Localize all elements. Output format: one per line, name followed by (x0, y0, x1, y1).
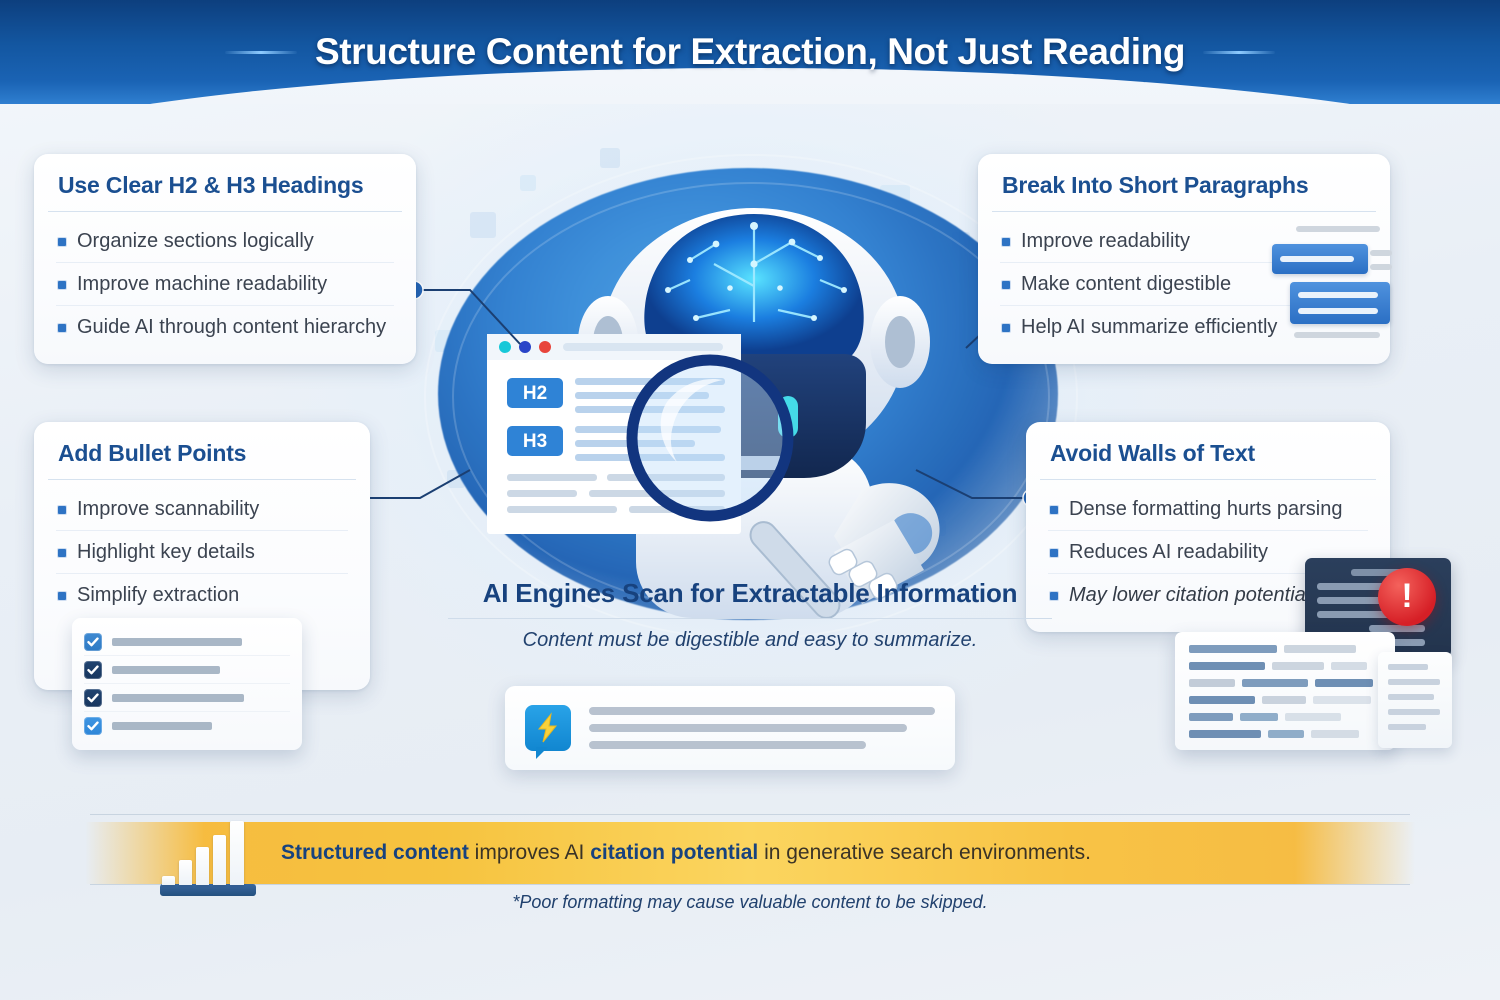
bullet-icon (58, 549, 66, 557)
list-item: Highlight key details (56, 530, 348, 573)
chart-bar (213, 835, 226, 885)
magnifier-icon (615, 350, 805, 540)
snippet-line (589, 741, 866, 749)
list-item-label: Highlight key details (77, 540, 255, 564)
card-use-clear-headings[interactable]: Use Clear H2 & H3 Headings Organize sect… (34, 154, 416, 364)
bar-chart-icon (160, 828, 256, 896)
list-item-label: Help AI summarize efficiently (1021, 315, 1277, 339)
caption-title: AI Engines Scan for Extractable Informat… (400, 578, 1100, 609)
list-item: Guide AI through content hierarchy (56, 305, 394, 348)
checklist-card (72, 618, 302, 750)
checklist-row[interactable] (84, 711, 290, 739)
chart-bar (162, 876, 175, 885)
deco-line (1388, 724, 1426, 730)
deco-line (1388, 694, 1434, 700)
list-item-label: Simplify extraction (77, 583, 239, 607)
checklist-row[interactable] (84, 683, 290, 711)
list-item-label: Reduces AI readability (1069, 540, 1268, 564)
bullet-icon (58, 281, 66, 289)
deco-line (1388, 664, 1428, 670)
caption-divider (448, 618, 1052, 619)
bullet-icon (1002, 281, 1010, 289)
dense-text-card-light (1175, 632, 1395, 750)
checklist-bar (112, 638, 242, 646)
card-title: Use Clear H2 & H3 Headings (34, 154, 416, 211)
header-dash-right-icon (1203, 51, 1275, 54)
footer-rule-bottom (90, 884, 1410, 885)
ai-snippet-card (505, 686, 955, 770)
footer-rule-top (90, 814, 1410, 815)
bullet-icon (58, 506, 66, 514)
footer-tail: in generative search environments. (758, 841, 1091, 864)
list-item-label: May lower citation potential (1069, 583, 1310, 607)
deco-line (1388, 679, 1440, 685)
checklist-bar (112, 694, 244, 702)
list-item-label: Dense formatting hurts parsing (1069, 497, 1342, 521)
bullet-icon (1002, 324, 1010, 332)
checkbox-checked-icon[interactable] (84, 717, 102, 735)
list-item: Improve machine readability (56, 262, 394, 305)
bullet-icon (58, 238, 66, 246)
infographic-canvas: H2 H3 Use (0, 0, 1500, 1000)
list-item-label: Guide AI through content hierarchy (77, 315, 386, 339)
lightning-bolt-bubble-icon (525, 705, 571, 751)
list-item: Simplify extraction (56, 573, 348, 616)
checklist-bar (112, 666, 220, 674)
list-item: Organize sections logically (56, 220, 394, 262)
bullet-icon (1002, 238, 1010, 246)
bullet-icon (1050, 549, 1058, 557)
checkbox-checked-icon[interactable] (84, 633, 102, 651)
footer-banner: Structured content improves AI citation … (85, 822, 1415, 884)
alert-glyph: ! (1401, 579, 1412, 613)
chart-bar (196, 847, 209, 885)
snippet-lines (589, 707, 935, 749)
red-alert-icon: ! (1378, 568, 1436, 626)
card-bullet-list: Improve scannability Highlight key detai… (34, 480, 370, 632)
deco-row (1189, 662, 1381, 670)
h2-badge-label: H2 (523, 383, 547, 404)
checklist-bar (112, 722, 212, 730)
paragraph-blocks-decoration (1272, 226, 1390, 346)
deco-row (1189, 713, 1381, 721)
bullet-icon (58, 592, 66, 600)
card-title: Avoid Walls of Text (1026, 422, 1390, 479)
footer-text: Structured content improves AI citation … (281, 841, 1091, 865)
card-bullet-list: Organize sections logically Improve mach… (34, 212, 416, 364)
dense-text-card-back (1378, 652, 1452, 748)
deco-row (1189, 696, 1381, 704)
checklist-row[interactable] (84, 628, 290, 655)
deco-line (1370, 250, 1392, 256)
chart-bar (179, 860, 192, 885)
snippet-line (589, 724, 907, 732)
deco-block (1290, 282, 1390, 324)
caption-subtitle: Content must be digestible and easy to s… (400, 629, 1100, 652)
deco-line (1388, 709, 1440, 715)
snippet-line (589, 707, 935, 715)
list-item: Dense formatting hurts parsing (1048, 488, 1368, 530)
bullet-icon (1050, 506, 1058, 514)
list-item-label: Improve scannability (77, 497, 259, 521)
deco-block (1272, 244, 1368, 274)
card-title: Add Bullet Points (34, 422, 370, 479)
page-title: Structure Content for Extraction, Not Ju… (315, 31, 1185, 73)
checkbox-checked-icon[interactable] (84, 661, 102, 679)
header-title-row: Structure Content for Extraction, Not Ju… (0, 0, 1500, 104)
chart-bar (230, 821, 244, 885)
checklist-row[interactable] (84, 655, 290, 683)
deco-line (1294, 332, 1380, 338)
footer-note: *Poor formatting may cause valuable cont… (0, 892, 1500, 913)
deco-line (1369, 625, 1425, 632)
card-title: Break Into Short Paragraphs (978, 154, 1390, 211)
deco-row (1189, 679, 1381, 687)
list-item-label: Make content digestible (1021, 272, 1231, 296)
center-caption: AI Engines Scan for Extractable Informat… (400, 578, 1100, 652)
deco-row (1189, 645, 1381, 653)
header-dash-left-icon (225, 51, 297, 54)
list-item: Improve scannability (56, 488, 348, 530)
list-item-label: Organize sections logically (77, 229, 314, 253)
footer-mid: improves AI (469, 841, 590, 864)
footer-bold-lead: Structured content (281, 841, 469, 864)
h3-badge-label: H3 (523, 431, 547, 452)
deco-line (1296, 226, 1380, 232)
deco-line (1370, 264, 1392, 270)
footer-bold-two: citation potential (590, 841, 758, 864)
bullet-icon (58, 324, 66, 332)
list-item-label: Improve machine readability (77, 272, 327, 296)
list-item-label: Improve readability (1021, 229, 1190, 253)
checkbox-checked-icon[interactable] (84, 689, 102, 707)
deco-row (1189, 730, 1381, 738)
